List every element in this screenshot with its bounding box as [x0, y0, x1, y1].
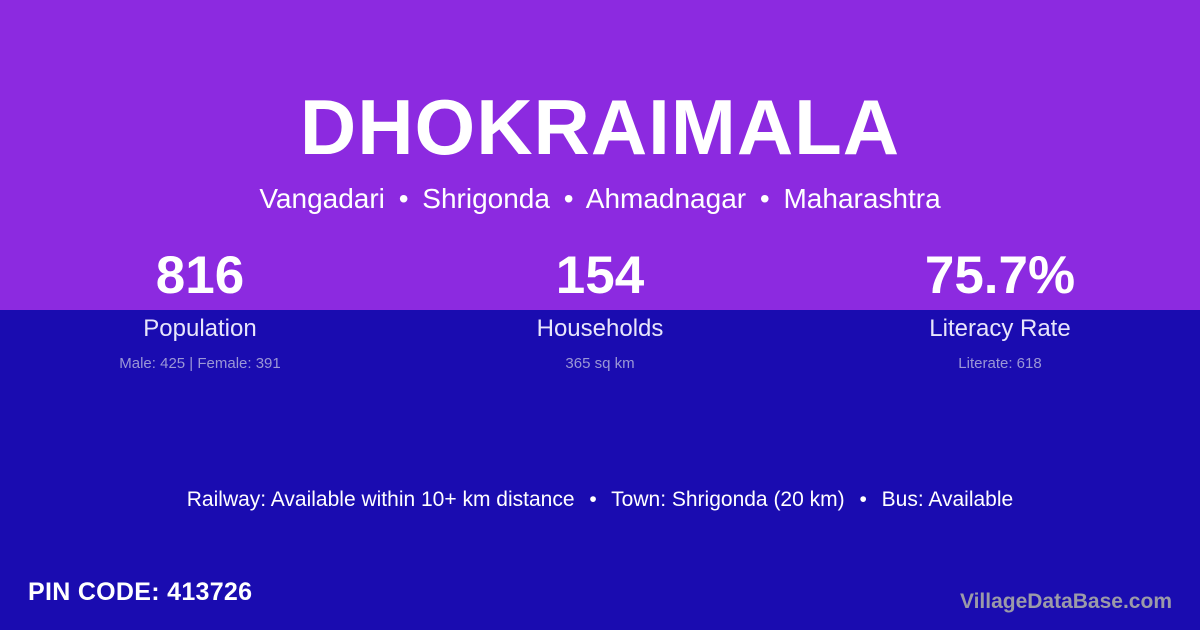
stat-population: 816 Population Male: 425 | Female: 391	[0, 242, 400, 375]
stat-literacy-rate: 75.7% Literacy Rate Literate: 618	[800, 242, 1200, 375]
stat-label: Households	[400, 314, 800, 344]
infrastructure-railway: Railway: Available within 10+ km distanc…	[187, 488, 575, 511]
breadcrumb-part-village: Vangadari	[259, 183, 385, 214]
stat-households: 154 Households 365 sq km	[400, 242, 800, 375]
breadcrumb-separator: •	[393, 182, 415, 216]
stat-label: Population	[0, 314, 400, 344]
stat-value: 154	[400, 242, 800, 310]
stats-row: 816 Population Male: 425 | Female: 391 1…	[0, 242, 1200, 375]
village-info-card: DHOKRAIMALA Vangadari • Shrigonda • Ahma…	[0, 0, 1200, 630]
brand-watermark: VillageDataBase.com	[960, 589, 1172, 615]
infrastructure-bus: Bus: Available	[882, 488, 1014, 511]
infrastructure-line: Railway: Available within 10+ km distanc…	[0, 486, 1200, 514]
infrastructure-separator: •	[850, 486, 875, 514]
pin-code: PIN CODE: 413726	[28, 577, 252, 607]
breadcrumb: Vangadari • Shrigonda • Ahmadnagar • Mah…	[0, 182, 1200, 216]
infrastructure-town: Town: Shrigonda (20 km)	[611, 488, 844, 511]
breadcrumb-part-state: Maharashtra	[783, 183, 940, 214]
page-title: DHOKRAIMALA	[0, 88, 1200, 166]
breadcrumb-separator: •	[754, 182, 776, 216]
breadcrumb-separator: •	[558, 182, 580, 216]
infrastructure-separator: •	[580, 486, 605, 514]
stat-sublabel: Literate: 618	[800, 353, 1200, 375]
stat-value: 75.7%	[800, 242, 1200, 310]
breadcrumb-part-taluka: Shrigonda	[422, 183, 550, 214]
stat-label: Literacy Rate	[800, 314, 1200, 344]
stat-sublabel: Male: 425 | Female: 391	[0, 353, 400, 375]
stat-sublabel: 365 sq km	[400, 353, 800, 375]
stat-value: 816	[0, 242, 400, 310]
breadcrumb-part-district: Ahmadnagar	[586, 183, 746, 214]
